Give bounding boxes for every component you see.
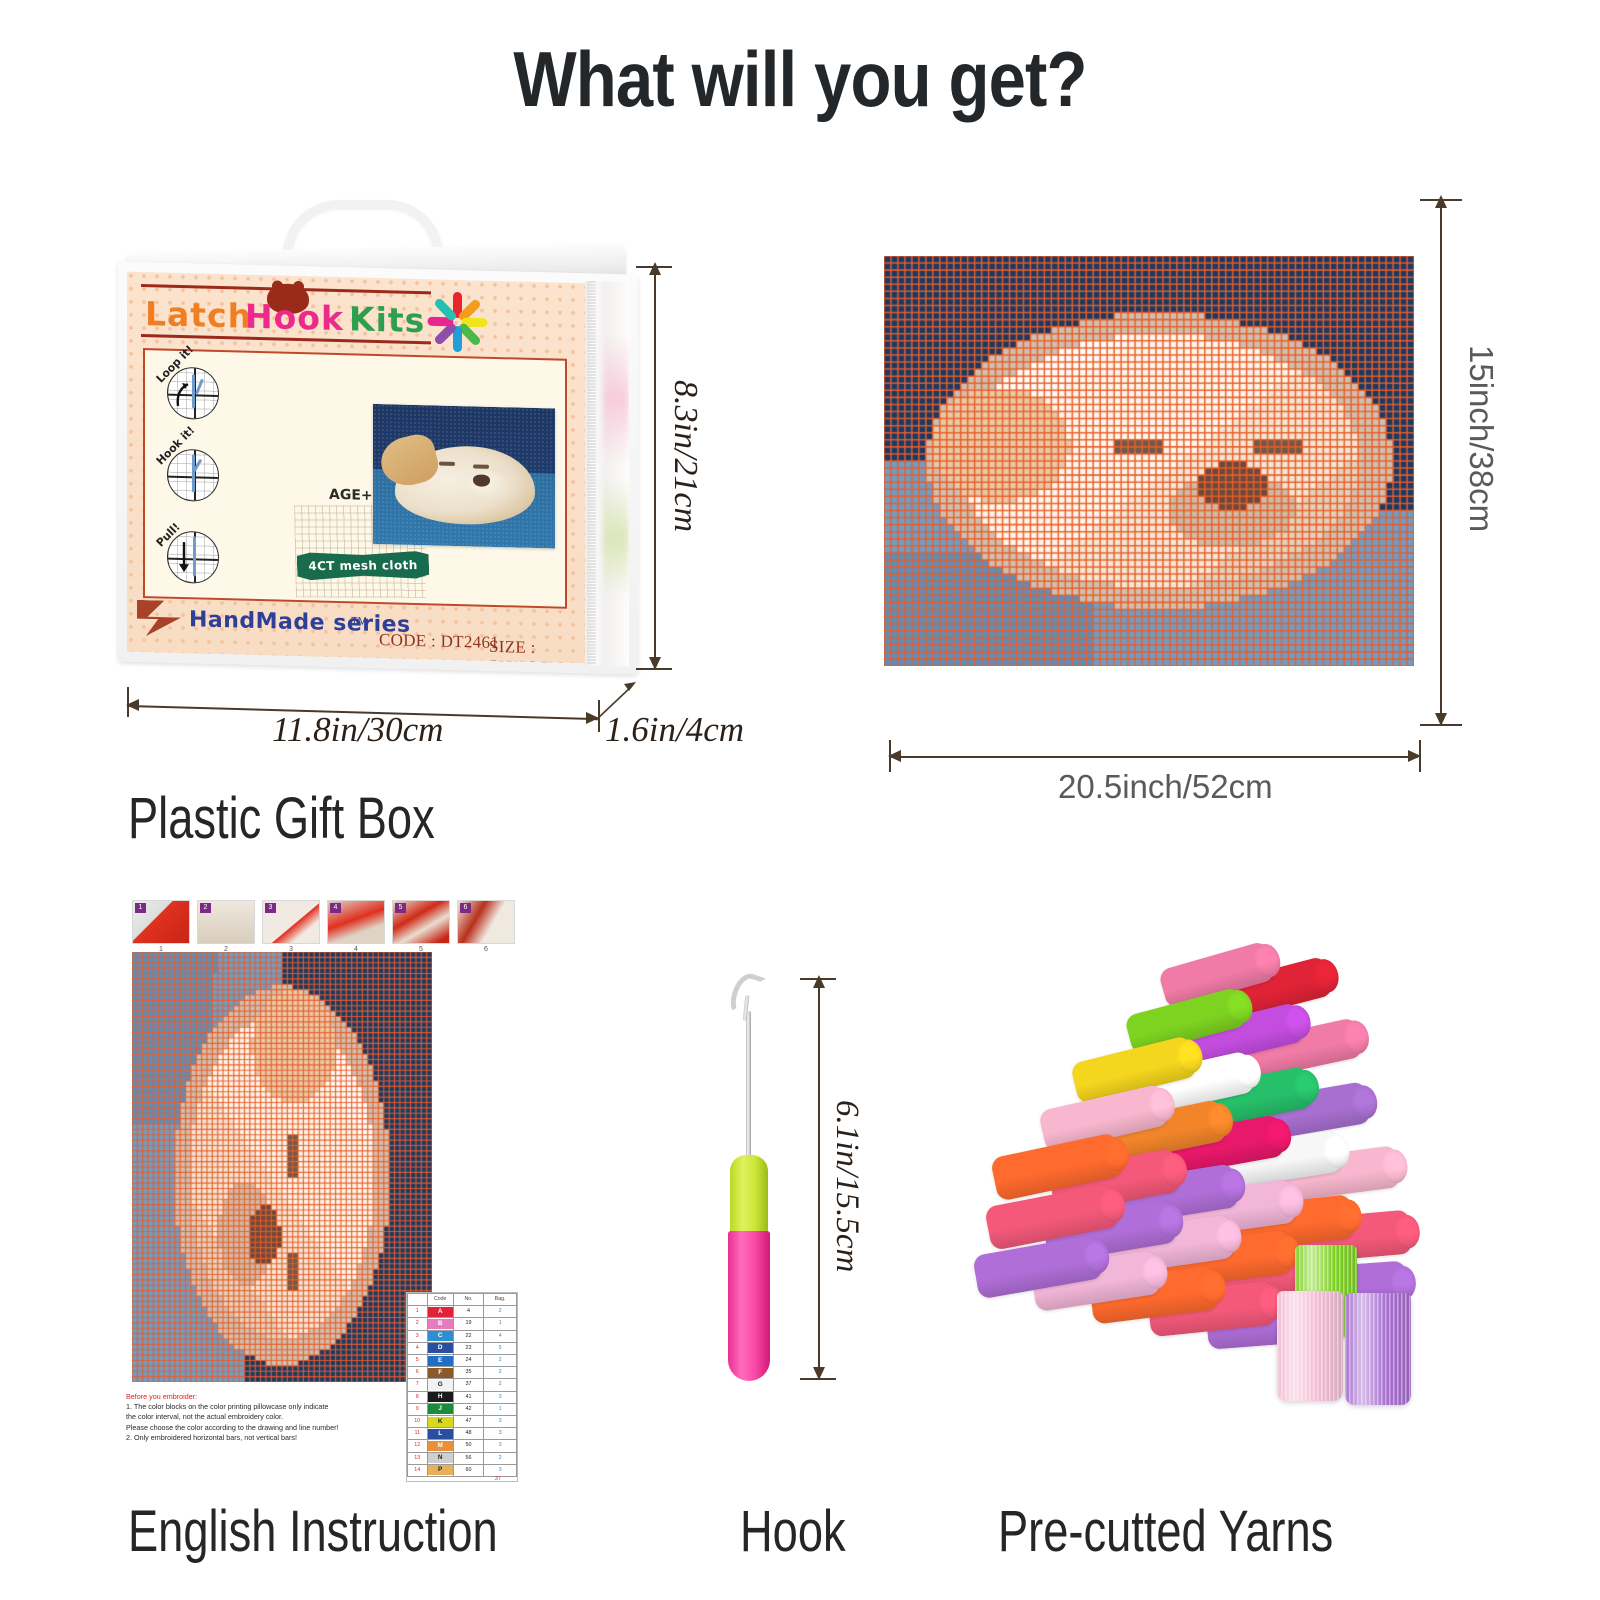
- hook-length-tick-bottom: [800, 1378, 836, 1380]
- legend-row: 4D235: [408, 1342, 517, 1354]
- legend-code-swatch: J: [427, 1403, 453, 1415]
- box-height-arrow-top: [649, 262, 661, 275]
- infographic-canvas: What will you get? Latch Hook Kits: [0, 0, 1600, 1600]
- box-height-dim-label: 8.3in/21cm: [666, 380, 704, 532]
- hook-length-arrow-top: [813, 975, 825, 988]
- caption-hook: Hook: [740, 1498, 846, 1565]
- legend-code-swatch: D: [427, 1342, 453, 1354]
- legend-bag-count: 4: [484, 1330, 517, 1342]
- step-thumbnail-badge: 6: [460, 903, 471, 913]
- gift-box-image: Latch Hook Kits Loop it!: [118, 196, 648, 676]
- pinwheel-logo-icon: [427, 291, 489, 355]
- box-contents-green: [603, 478, 629, 599]
- legend-index: 7: [408, 1379, 428, 1391]
- page-title: What will you get?: [112, 34, 1488, 125]
- before-you-embroider-note: Before you embroider: 1. The color block…: [126, 1392, 398, 1443]
- legend-number: 47: [453, 1416, 484, 1428]
- step-thumbnail: 6: [457, 900, 515, 944]
- canvas-height-dim-line: [1440, 200, 1442, 724]
- legend-row: 7G372: [408, 1379, 517, 1391]
- legend-col-bag: Bag.: [484, 1294, 517, 1306]
- hook-grip-upper: [730, 1155, 768, 1233]
- legend-index: 8: [408, 1391, 428, 1403]
- hook-grip-lower: [728, 1231, 770, 1381]
- canvas-width-dim-line: [890, 756, 1418, 758]
- instruction-sheet-image: 112233445566 Code No. Bag. 1A422B1913C22…: [124, 900, 524, 1470]
- note-line-4: 2. Only embroidered horizontal bars, not…: [126, 1433, 297, 1442]
- box-body: Latch Hook Kits Loop it!: [118, 261, 638, 674]
- box-edge-sheen: [587, 281, 596, 665]
- caption-yarns: Pre-cutted Yarns: [998, 1498, 1333, 1565]
- finished-rug-photo: [373, 404, 555, 549]
- legend-code-swatch: K: [427, 1416, 453, 1428]
- legend-row: 5E242: [408, 1355, 517, 1367]
- step-thumbnail: 5: [392, 900, 450, 944]
- legend-bag-count: 3: [484, 1428, 517, 1440]
- brand-word-hook: Hook: [245, 297, 344, 339]
- legend-index: 2: [408, 1318, 428, 1330]
- step-circle-hook: [167, 449, 219, 502]
- canvas-height-dim-label: 15inch/38cm: [1462, 345, 1500, 532]
- step-thumbnail-badge: 5: [395, 903, 406, 913]
- legend-row: 1A42: [408, 1306, 517, 1318]
- brand-word-latch: Latch: [145, 294, 252, 336]
- legend-bag-count: 1: [484, 1403, 517, 1415]
- legend-code-swatch: B: [427, 1318, 453, 1330]
- step-circle-loop: [167, 367, 219, 420]
- legend-bag-count: 2: [484, 1367, 517, 1379]
- legend-code-swatch: F: [427, 1367, 453, 1379]
- yarn-bundle: [1345, 1293, 1411, 1405]
- legend-number: 35: [453, 1367, 484, 1379]
- box-height-tick-top: [636, 266, 672, 268]
- yarn-bundle: [1277, 1291, 1343, 1401]
- hook-length-dim-line: [818, 980, 820, 1378]
- box-width-tick-left: [127, 687, 129, 717]
- legend-number: 4: [453, 1306, 484, 1318]
- step-thumbnail: 3: [262, 900, 320, 944]
- legend-code-swatch: P: [427, 1464, 453, 1476]
- legend-bag-count: 2: [484, 1355, 517, 1367]
- legend-bag-count: 3: [484, 1464, 517, 1476]
- step-thumbnail-badge: 3: [265, 903, 276, 913]
- canvas-height-tick-top: [1420, 199, 1462, 201]
- legend-bag-count: 2: [484, 1306, 517, 1318]
- legend-table: Code No. Bag. 1A422B1913C2244D2355E2426F…: [407, 1293, 517, 1477]
- step-circle-pull: [167, 531, 219, 584]
- hook-needle: [746, 1011, 751, 1161]
- latch-hook-tool-image: [700, 965, 820, 1405]
- legend-row: 13N562: [408, 1452, 517, 1464]
- legend-index: 13: [408, 1452, 428, 1464]
- legend-number: 37: [453, 1379, 484, 1391]
- printed-canvas-image: [884, 256, 1414, 666]
- legend-row: 2B191: [408, 1318, 517, 1330]
- legend-number: 22: [453, 1330, 484, 1342]
- legend-bag-count: 2: [484, 1452, 517, 1464]
- legend-index: 5: [408, 1355, 428, 1367]
- instruction-pixel-chart: [132, 952, 432, 1382]
- legend-row: 11L483: [408, 1428, 517, 1440]
- canvas-height-arrow-top: [1435, 195, 1447, 208]
- caption-gift-box: Plastic Gift Box: [128, 785, 435, 852]
- step-thumbnail: 1: [132, 900, 190, 944]
- color-code-legend: Code No. Bag. 1A422B1913C2244D2355E2426F…: [406, 1292, 518, 1482]
- step-thumbnail-number: 6: [457, 946, 515, 953]
- box-instruction-panel: Loop it! Hook it!: [143, 348, 567, 609]
- legend-index: 11: [408, 1428, 428, 1440]
- legend-row: 3C224: [408, 1330, 517, 1342]
- legend-index: 1: [408, 1306, 428, 1318]
- legend-number: 19: [453, 1318, 484, 1330]
- legend-row: 14P603: [408, 1464, 517, 1476]
- legend-code-swatch: M: [427, 1440, 453, 1452]
- legend-row: 10K473: [408, 1416, 517, 1428]
- legend-index: 4: [408, 1342, 428, 1354]
- legend-bag-count: 3: [484, 1416, 517, 1428]
- legend-number: 41: [453, 1391, 484, 1403]
- legend-row: 9J421: [408, 1403, 517, 1415]
- legend-index: 14: [408, 1464, 428, 1476]
- legend-number: 50: [453, 1440, 484, 1452]
- legend-index: 3: [408, 1330, 428, 1342]
- legend-bag-count: 3: [484, 1391, 517, 1403]
- legend-row: 6F352: [408, 1367, 517, 1379]
- legend-code-swatch: L: [427, 1428, 453, 1440]
- legend-code-swatch: E: [427, 1355, 453, 1367]
- step-thumbnail: 2: [197, 900, 255, 944]
- legend-index: 9: [408, 1403, 428, 1415]
- legend-code-swatch: G: [427, 1379, 453, 1391]
- box-depth-dim-label: 1.6in/4cm: [605, 710, 744, 750]
- caption-instruction: English Instruction: [128, 1498, 498, 1565]
- legend-bag-count: 2: [484, 1379, 517, 1391]
- product-code-text: CODE : DT2461: [379, 630, 499, 653]
- legend-number: 42: [453, 1403, 484, 1415]
- precut-yarns-image: [965, 945, 1465, 1435]
- note-line-1: 1. The color blocks on the color printin…: [126, 1402, 328, 1411]
- trademark-mark: TM: [351, 615, 367, 627]
- step-thumbnail-badge: 2: [200, 903, 211, 913]
- brand-word-kits: Kits: [349, 299, 425, 340]
- handmade-zigzag-icon: [137, 600, 181, 637]
- box-side-edge: [585, 281, 629, 666]
- box-front-face: Latch Hook Kits Loop it!: [127, 272, 585, 664]
- legend-body: 1A422B1913C2244D2355E2426F3527G3728H4139…: [408, 1306, 517, 1477]
- box-height-dim-line: [654, 268, 656, 668]
- legend-row: 12M503: [408, 1440, 517, 1452]
- legend-total-count: 37: [495, 1476, 501, 1482]
- canvas-width-tick-right: [1419, 740, 1421, 772]
- canvas-width-tick-left: [889, 740, 891, 772]
- canvas-width-dim-label: 20.5inch/52cm: [1058, 768, 1273, 806]
- legend-number: 48: [453, 1428, 484, 1440]
- hook-length-tick-top: [800, 978, 836, 980]
- legend-number: 56: [453, 1452, 484, 1464]
- legend-index: 6: [408, 1367, 428, 1379]
- legend-code-swatch: N: [427, 1452, 453, 1464]
- legend-header-row: Code No. Bag.: [408, 1294, 517, 1306]
- legend-number: 24: [453, 1355, 484, 1367]
- legend-row: 8H413: [408, 1391, 517, 1403]
- legend-col-index: [408, 1294, 428, 1306]
- note-line-3: Please choose the color according to the…: [126, 1423, 339, 1432]
- box-width-dim-label: 11.8in/30cm: [272, 710, 443, 750]
- handmade-series-text: HandMade series: [189, 607, 411, 638]
- legend-col-no: No.: [453, 1294, 484, 1306]
- step-thumbnail-badge: 4: [330, 903, 341, 913]
- note-heading: Before you embroider:: [126, 1392, 398, 1402]
- product-size-text: SIZE : 52X38CM: [489, 637, 585, 663]
- legend-index: 10: [408, 1416, 428, 1428]
- canvas-height-tick-bottom: [1420, 724, 1462, 726]
- canvas-pixel-art: [884, 256, 1414, 666]
- legend-bag-count: 5: [484, 1342, 517, 1354]
- hook-length-dim-label: 6.1in/15.5cm: [828, 1100, 865, 1272]
- legend-code-swatch: C: [427, 1330, 453, 1342]
- note-line-2: the color interval, not the actual embro…: [126, 1412, 283, 1421]
- legend-code-swatch: H: [427, 1391, 453, 1403]
- legend-index: 12: [408, 1440, 428, 1452]
- box-contents-pink: [603, 334, 629, 465]
- step-thumbnail: 4: [327, 900, 385, 944]
- step-thumbnail-badge: 1: [135, 903, 146, 913]
- legend-col-code: Code: [427, 1294, 453, 1306]
- legend-code-swatch: A: [427, 1306, 453, 1318]
- step-thumbnail-strip: 112233445566: [132, 900, 524, 948]
- legend-number: 23: [453, 1342, 484, 1354]
- legend-number: 60: [453, 1464, 484, 1476]
- legend-bag-count: 1: [484, 1318, 517, 1330]
- legend-bag-count: 3: [484, 1440, 517, 1452]
